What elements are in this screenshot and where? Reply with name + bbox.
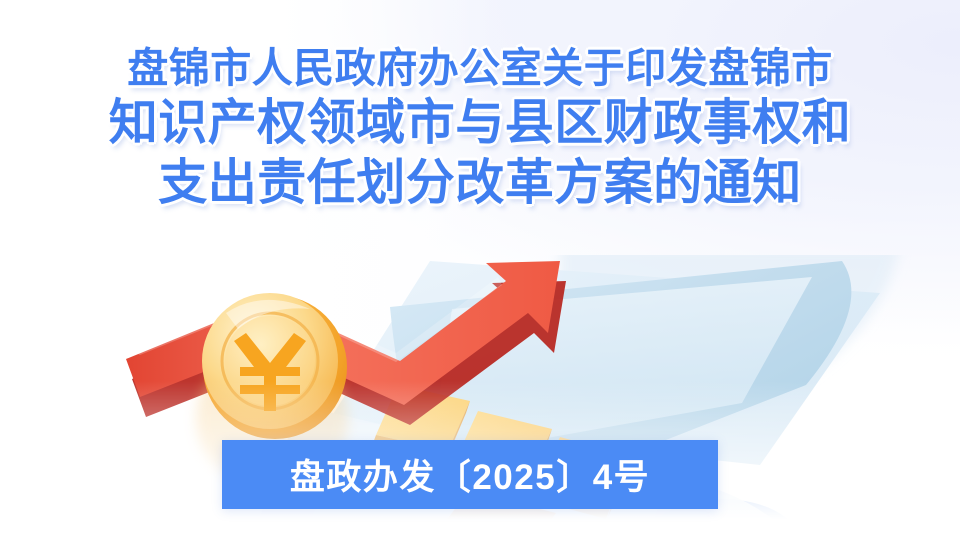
title-line-1: 盘锦市人民政府办公室关于印发盘锦市 bbox=[0, 46, 960, 92]
page-title: 盘锦市人民政府办公室关于印发盘锦市 知识产权领域市与县区财政事权和 支出责任划分… bbox=[0, 46, 960, 211]
document-number-text: 盘政办发〔2025〕4号 bbox=[290, 449, 650, 500]
title-line-2: 知识产权领域市与县区财政事权和 bbox=[0, 96, 960, 151]
document-number-badge: 盘政办发〔2025〕4号 bbox=[222, 440, 718, 509]
banner-canvas: 盘锦市人民政府办公室关于印发盘锦市 知识产权领域市与县区财政事权和 支出责任划分… bbox=[0, 0, 960, 544]
title-line-3: 支出责任划分改革方案的通知 bbox=[0, 156, 960, 211]
